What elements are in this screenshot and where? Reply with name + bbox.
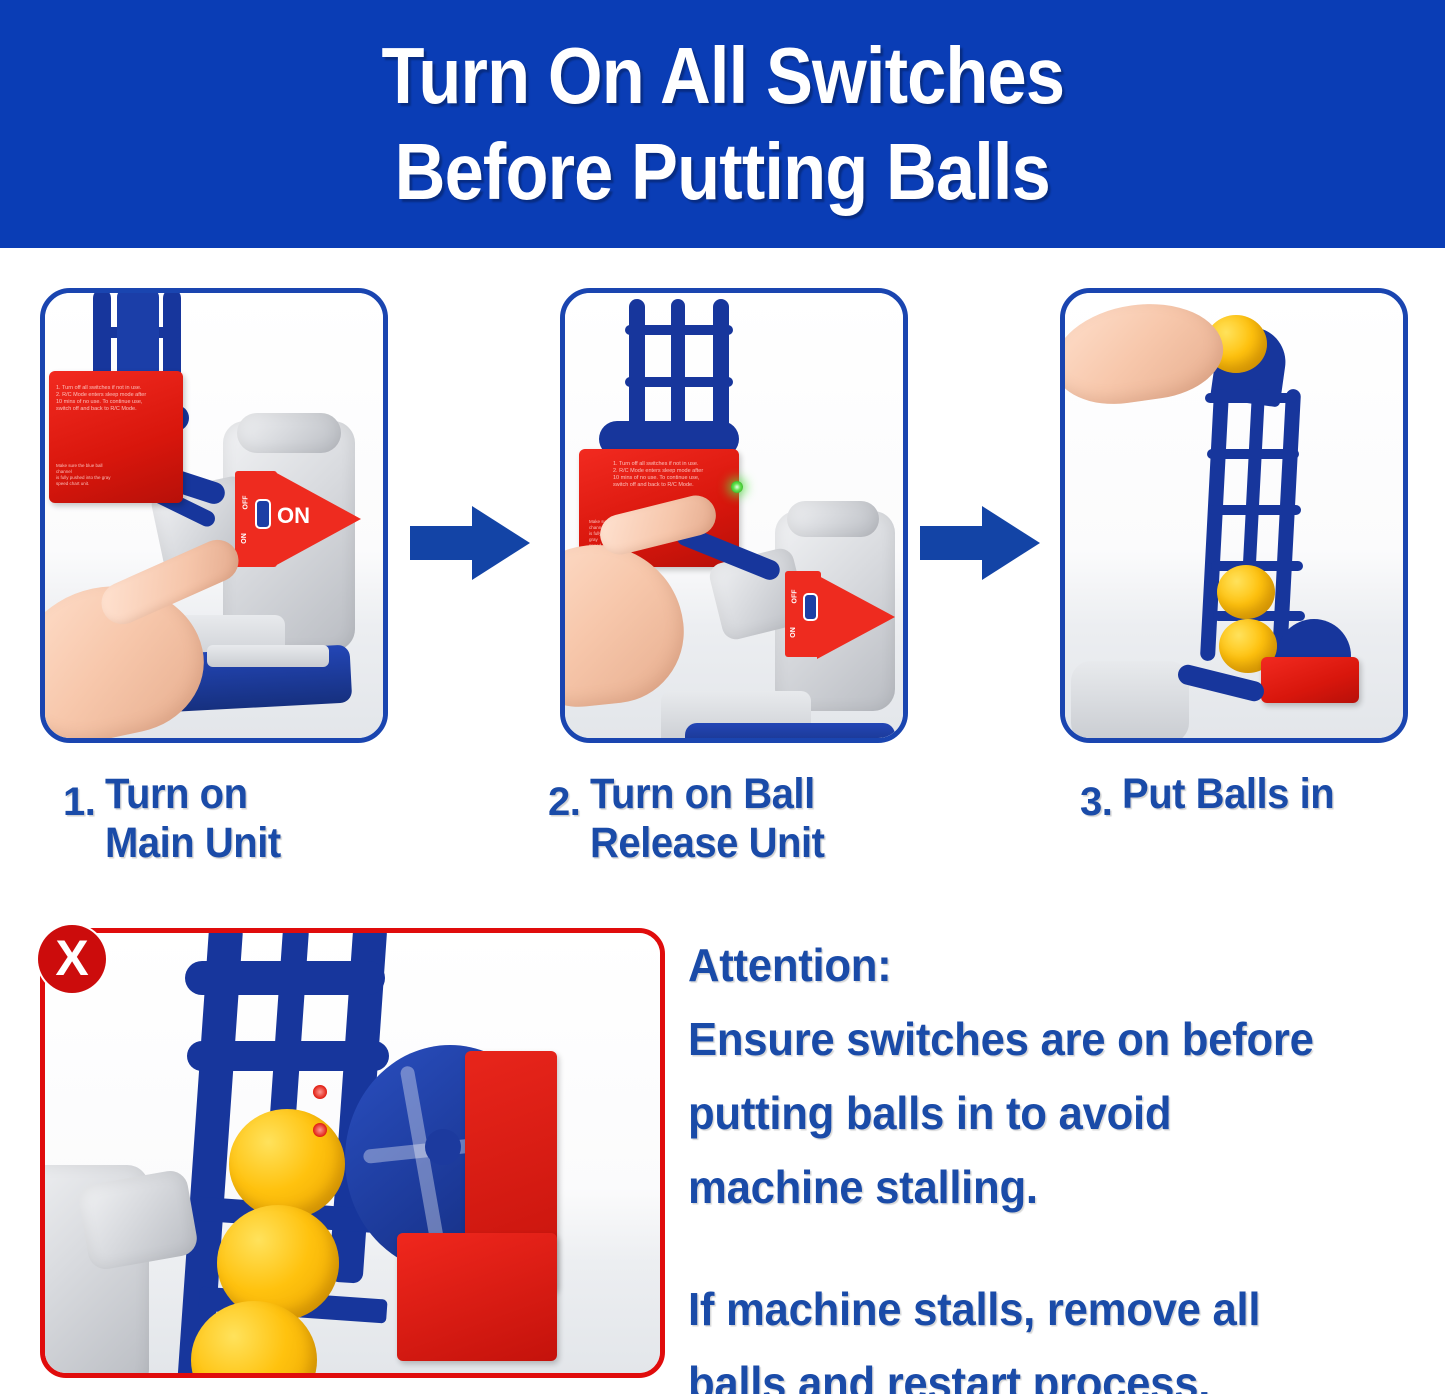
red-label-instructions: 1. Turn off all switches if not in use. … [613, 461, 731, 489]
instruction-infographic: Turn On All Switches Before Putting Ball… [0, 0, 1445, 1394]
ball-in-tower [1217, 565, 1275, 619]
base-slider-track [207, 645, 329, 667]
step-3-number: 3. [1080, 770, 1112, 827]
header-title-line-2: Before Putting Balls [395, 124, 1050, 220]
step-3 [1060, 288, 1415, 743]
arrow-shaft [920, 526, 986, 560]
step-3-photo [1060, 288, 1408, 743]
header-banner: Turn On All Switches Before Putting Ball… [0, 0, 1445, 248]
step-1-caption-text: Turn on Main Unit [105, 770, 281, 868]
led-indicator-red [313, 1085, 327, 1099]
attention-p2-line-1: If machine stalls, remove all [688, 1272, 1391, 1346]
step-2-caption-line-1: Turn on Ball [590, 770, 824, 819]
switch-off-label: OFF [243, 496, 250, 510]
step-2-scene: 1. Turn off all switches if not in use. … [565, 293, 903, 738]
attention-text-block: Attention: Ensure switches are on before… [688, 928, 1428, 1394]
attention-p2-line-2: balls and restart process. [688, 1346, 1391, 1394]
arrow-step-1-to-2 [410, 506, 530, 580]
main-unit-body [1071, 661, 1189, 743]
step-2-number: 2. [548, 770, 580, 827]
power-switch-toggle[interactable] [255, 499, 271, 529]
switch-off-label: OFF [792, 590, 799, 604]
attention-p1-line-1: Ensure switches are on before [688, 1002, 1391, 1076]
step-2-caption: 2. Turn on Ball Release Unit [548, 770, 842, 868]
red-instruction-label: 1. Turn off all switches if not in use. … [49, 371, 183, 503]
header-title-line-1: Turn On All Switches [381, 28, 1064, 124]
step-3-caption: 3. Put Balls in [1080, 770, 1351, 827]
attention-heading: Attention: [688, 928, 1391, 1002]
main-unit-base [685, 723, 895, 743]
power-switch-toggle[interactable] [803, 593, 818, 621]
step-1-number: 1. [63, 770, 95, 827]
arrow-step-2-to-3 [920, 506, 1040, 580]
led-indicator-red [313, 1123, 327, 1137]
attention-p1-line-2: putting balls in to avoid [688, 1076, 1391, 1150]
step-1-caption-line-2: Main Unit [105, 819, 281, 868]
main-unit-top-cap [237, 413, 341, 453]
attention-p1-line-3: machine stalling. [688, 1150, 1391, 1224]
step-1: 1. Turn off all switches if not in use. … [40, 288, 395, 743]
step-2: 1. Turn off all switches if not in use. … [560, 288, 915, 743]
power-led-indicator [731, 481, 743, 493]
arrow-shaft [410, 526, 476, 560]
step-3-caption-text: Put Balls in [1122, 770, 1334, 819]
warning-photo-panel [40, 928, 665, 1378]
step-2-caption-text: Turn on Ball Release Unit [590, 770, 824, 868]
switch-on-label: ON [241, 533, 248, 544]
on-word-label: ON [277, 503, 310, 529]
tower-rung [625, 377, 733, 387]
step-1-scene: 1. Turn off all switches if not in use. … [45, 293, 383, 738]
arrow-head [472, 506, 530, 580]
do-not-x-icon: X [38, 925, 106, 993]
red-label-instructions: 1. Turn off all switches if not in use. … [56, 385, 176, 413]
tower-collar [187, 1041, 389, 1071]
warning-scene [45, 933, 660, 1373]
main-unit-top-cap [787, 501, 879, 537]
red-label-note: Make sure the blue ball channel is fully… [56, 463, 116, 487]
step-2-caption-line-2: Release Unit [590, 819, 824, 868]
arrow-head [982, 506, 1040, 580]
step-1-photo: 1. Turn off all switches if not in use. … [40, 288, 388, 743]
step-2-photo: 1. Turn off all switches if not in use. … [560, 288, 908, 743]
spinner-hub [425, 1129, 461, 1165]
step-3-caption-line-1: Put Balls in [1122, 770, 1334, 819]
red-base-tray [397, 1233, 557, 1361]
main-unit-nozzle [76, 1168, 199, 1272]
red-base-plate [1261, 657, 1359, 703]
tower-collar [185, 961, 385, 995]
tower-rung [1209, 505, 1301, 515]
tower-rung [625, 325, 733, 335]
step-1-caption: 1. Turn on Main Unit [63, 770, 294, 868]
tower-rung [1207, 449, 1299, 459]
jammed-ball [229, 1109, 345, 1219]
step-3-scene [1065, 293, 1403, 738]
tower-rung [1205, 393, 1297, 403]
switch-on-label: ON [790, 627, 797, 638]
step-1-caption-line-1: Turn on [105, 770, 281, 819]
holding-hand [1060, 294, 1229, 413]
attention-paragraph-gap [688, 1224, 1428, 1272]
on-sticker-triangle [817, 575, 895, 659]
